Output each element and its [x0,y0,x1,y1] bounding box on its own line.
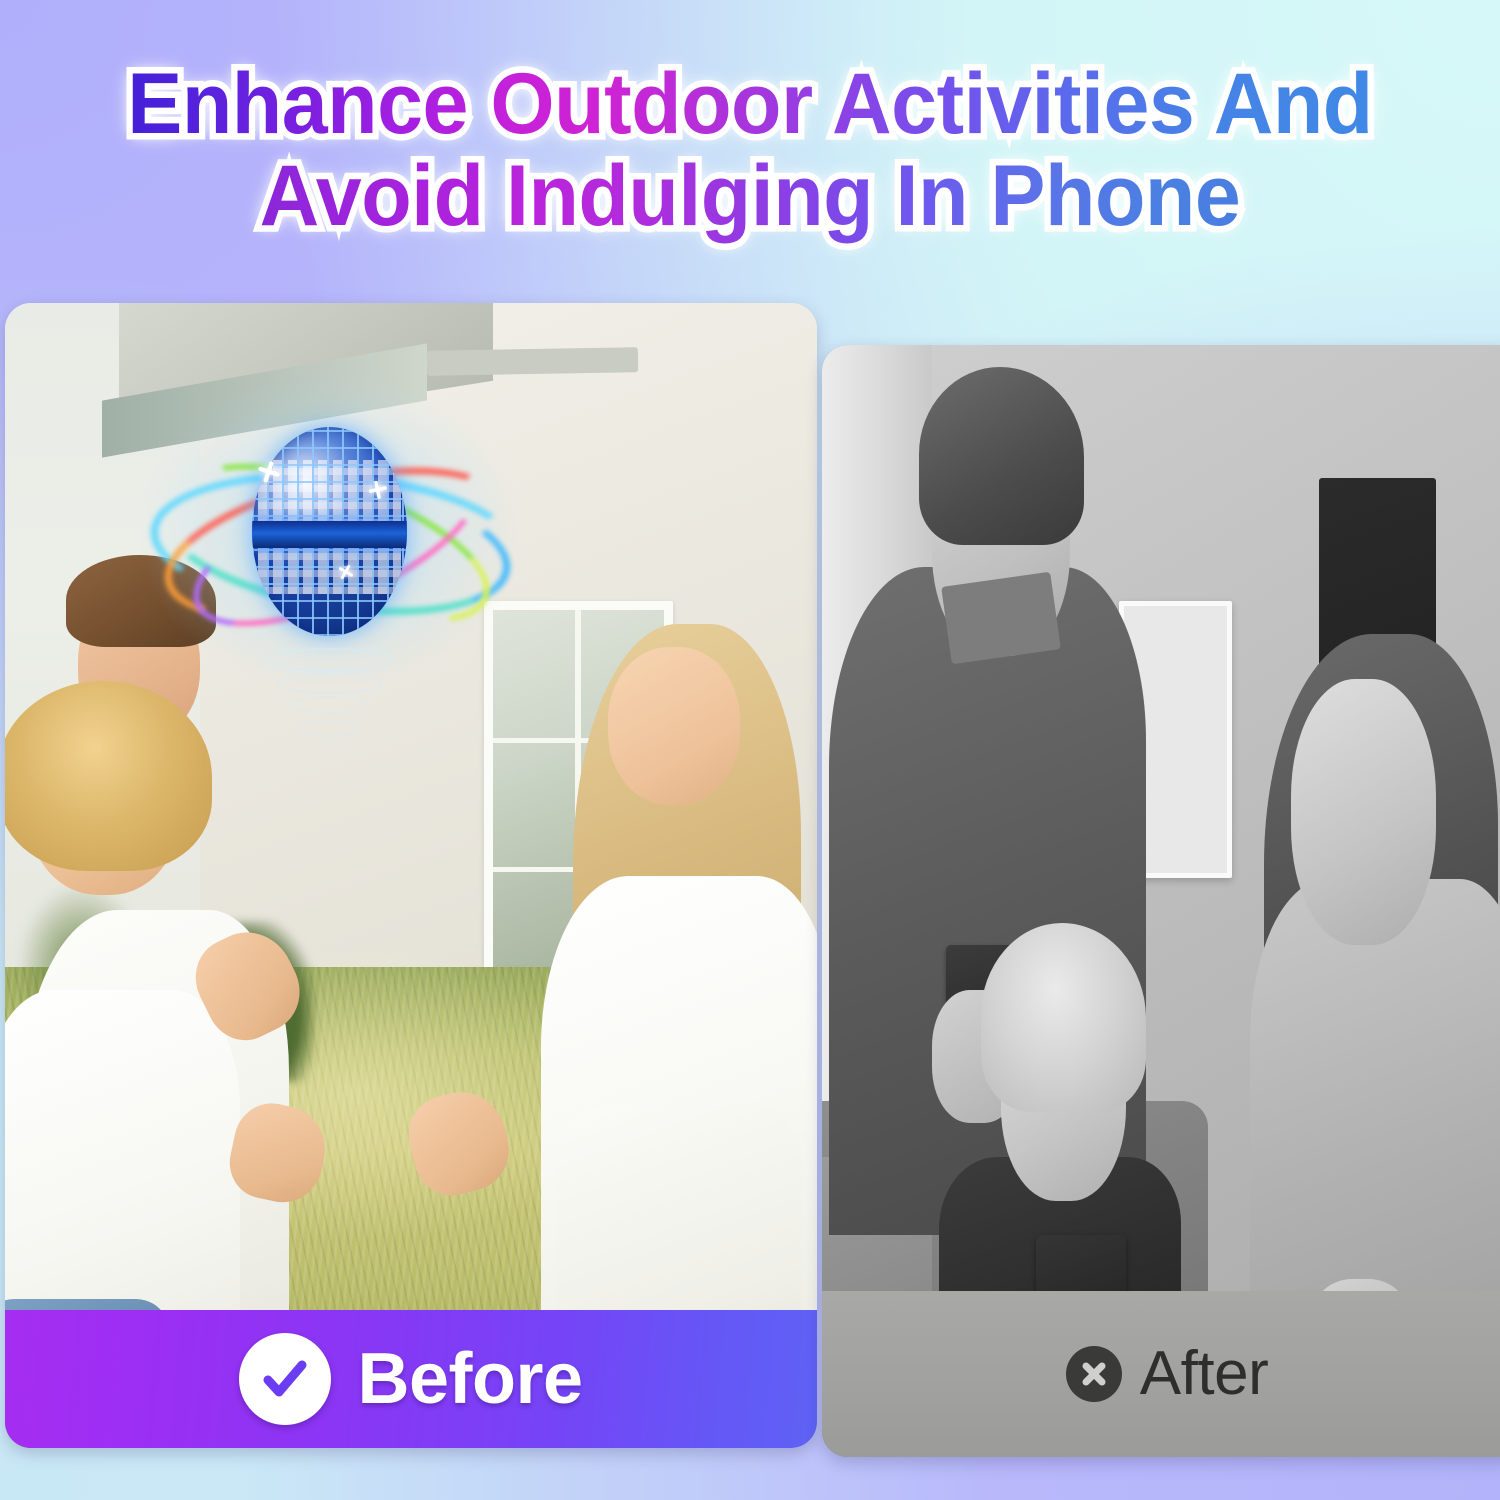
orb-airwave-4 [300,721,359,737]
mother-head-after [1291,679,1436,946]
before-label-text: Before [357,1343,582,1415]
headline-line-1: Enhance Outdoor Activities And Enhance O… [30,58,1470,150]
flying-orb-toy [216,418,444,646]
father-collar-after [941,571,1061,663]
child-hair-after [981,923,1147,1112]
before-panel: Before [5,303,817,1448]
after-panel: After [822,345,1500,1457]
after-label-text: After [1140,1343,1268,1405]
before-label-bar: Before [5,1310,817,1448]
headline-line-1-text: Enhance Outdoor Activities And [127,56,1373,152]
child-hair [5,681,212,871]
after-label-bar: After [822,1291,1500,1457]
x-circle-icon [1066,1346,1122,1402]
headline-line-2: Avoid Indulging In Phone Avoid Indulging… [30,150,1470,242]
orb-sphere [252,427,407,637]
orb-airwave-2 [278,673,382,694]
headline: Enhance Outdoor Activities And Enhance O… [0,58,1500,242]
check-circle-icon [239,1333,331,1425]
headline-line-2-text: Avoid Indulging In Phone [260,148,1241,244]
mother-head [608,647,740,805]
orb-airwave-3 [290,696,369,714]
father-hair-after [919,367,1085,545]
orb-airwave-1 [264,648,396,672]
before-photo [5,303,817,1448]
orb-equator-band [252,521,407,548]
